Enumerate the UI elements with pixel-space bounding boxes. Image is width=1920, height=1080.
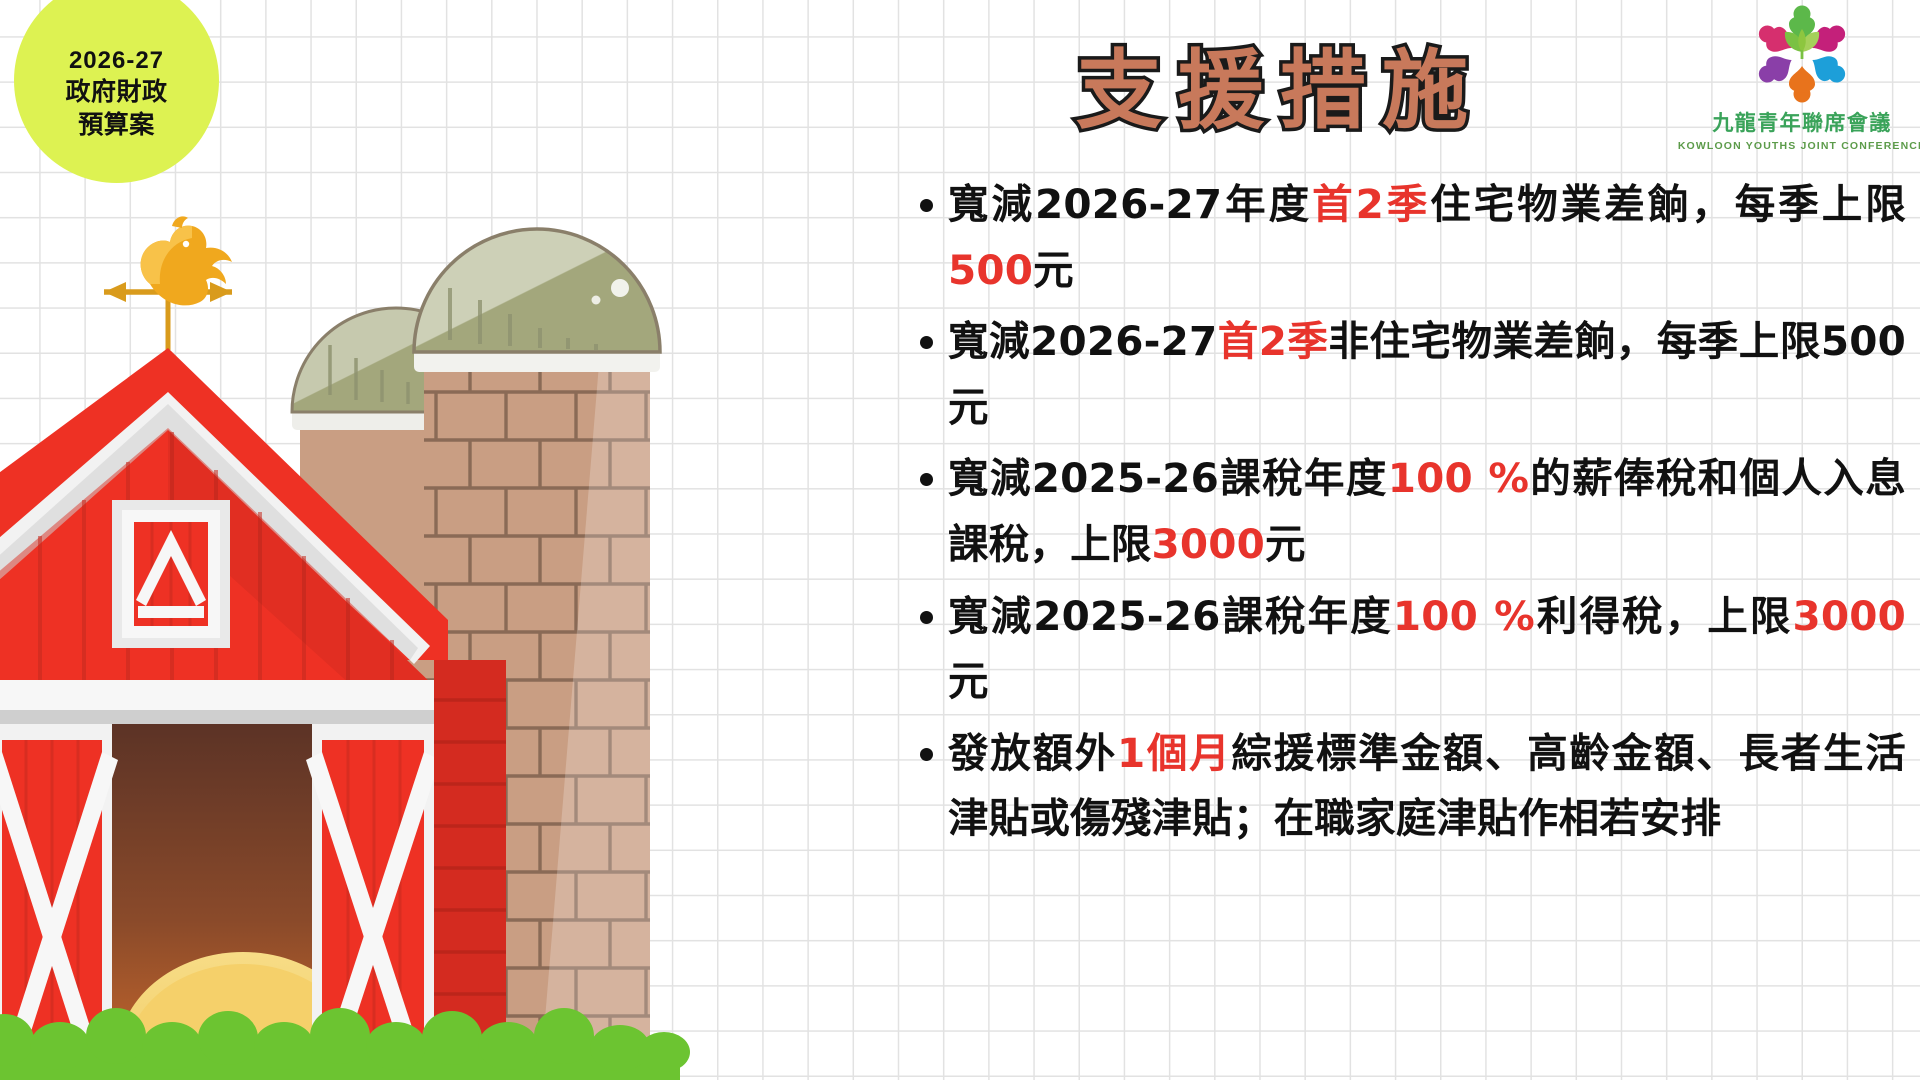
support-measures-list: 寬減2026-27年度首2季住宅物業差餉，每季上限500元寬減2026-27首2…	[896, 172, 1906, 858]
body-text: 利得稅，上限	[1535, 592, 1793, 640]
logo-english-name: KOWLOON YOUTHS JOINT CONFERENCE	[1678, 140, 1920, 152]
body-text: 寬減2025-26課稅年度	[948, 454, 1388, 502]
rooster-weathervane-icon	[104, 216, 232, 350]
measure-profits-tax: 寬減2025-26課稅年度100 %利得稅，上限3000元	[896, 584, 1906, 715]
highlighted-text: 首2季	[1217, 317, 1328, 365]
measure-extra-allowance: 發放額外1個月綜援標準金額、高齡金額、長者生活津貼或傷殘津貼；在職家庭津貼作相若…	[896, 721, 1906, 852]
organization-logo: 九龍青年聯席會議 KOWLOON YOUTHS JOINT CONFERENCE	[1688, 2, 1916, 162]
highlighted-text: 1個月	[1117, 729, 1231, 777]
body-text: 寬減2026-27	[948, 317, 1217, 365]
badge-line-1: 政府財政	[65, 76, 167, 109]
leaf-icon	[1785, 29, 1819, 59]
body-text: 寬減2025-26課稅年度	[948, 592, 1393, 640]
body-text: 發放額外	[948, 729, 1117, 777]
highlighted-text: 首2季	[1312, 180, 1430, 228]
highlighted-text: 100 %	[1393, 592, 1535, 640]
kyjc-emblem-icon	[1742, 2, 1862, 106]
measure-nonresidential-rates: 寬減2026-27首2季非住宅物業差餉，每季上限500元	[896, 309, 1906, 440]
badge-year-label: 2026-27	[69, 45, 164, 77]
body-text: 元	[948, 657, 989, 705]
body-text: 寬減2026-27年度	[948, 180, 1312, 228]
highlighted-text: 3000	[1792, 592, 1906, 640]
body-text: 元	[1265, 520, 1306, 568]
grass-strip	[0, 1008, 690, 1080]
page-title: 支援措施	[900, 48, 1660, 134]
body-text: 住宅物業差餉，每季上限	[1430, 180, 1906, 228]
highlighted-text: 500	[948, 246, 1033, 294]
logo-chinese-name: 九龍青年聯席會議	[1712, 107, 1891, 137]
body-text: 元	[1033, 246, 1074, 294]
badge-line-2: 預算案	[78, 109, 155, 142]
measure-residential-rates: 寬減2026-27年度首2季住宅物業差餉，每季上限500元	[896, 172, 1906, 303]
highlighted-text: 100 %	[1388, 454, 1529, 502]
content-panel: 支援措施	[880, 0, 1920, 1080]
measure-salaries-tax: 寬減2025-26課稅年度100 %的薪俸稅和個人入息課稅，上限3000元	[896, 446, 1906, 577]
highlighted-text: 3000	[1152, 520, 1266, 568]
